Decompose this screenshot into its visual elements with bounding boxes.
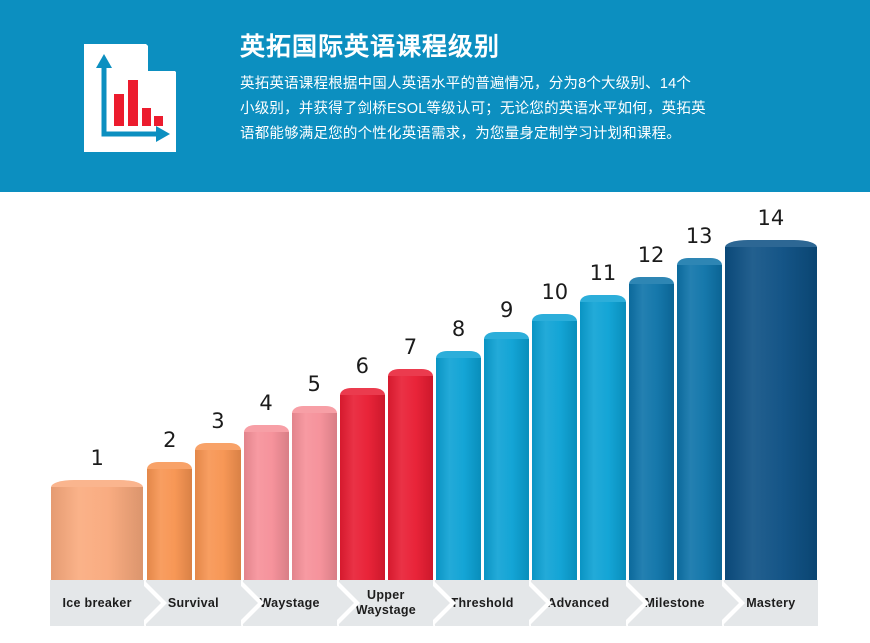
- chart-plot-area: 1234567891011121314: [0, 192, 870, 580]
- stage-label: Advanced: [547, 596, 609, 611]
- bar-level-2[interactable]: [147, 462, 192, 580]
- bar-value-label-14: 14: [725, 206, 817, 230]
- bar-level-5[interactable]: [292, 406, 337, 580]
- bar-value-label-2: 2: [147, 428, 192, 452]
- bar-level-7[interactable]: [388, 369, 433, 580]
- stage-chevron-icon: [433, 580, 456, 626]
- bar-body: [51, 487, 143, 580]
- bar-level-9[interactable]: [484, 332, 529, 580]
- bar-level-1[interactable]: [51, 480, 143, 580]
- bar-value-label-12: 12: [629, 243, 674, 267]
- bar-value-label-6: 6: [340, 354, 385, 378]
- bar-body: [677, 265, 722, 580]
- banner-description-line-3: 语都能够满足您的个性化英语需求，为您量身定制学习计划和课程。: [240, 122, 840, 147]
- bar-body: [725, 247, 817, 580]
- bar-body: [195, 450, 240, 580]
- bar-body: [629, 284, 674, 580]
- bar-value-label-11: 11: [580, 261, 625, 285]
- bar-body: [388, 376, 433, 580]
- stage-chevron-icon: [529, 580, 552, 626]
- banner-description: 英拓英语课程根据中国人英语水平的普遍情况，分为8个大级别、14个 小级别，并获得…: [240, 72, 840, 147]
- bar-value-label-4: 4: [244, 391, 289, 415]
- banner-description-line-1: 英拓英语课程根据中国人英语水平的普遍情况，分为8个大级别、14个: [240, 72, 840, 97]
- document-bar-chart-icon: [82, 42, 178, 154]
- bar-value-label-13: 13: [677, 224, 722, 248]
- header-banner: 英拓国际英语课程级别 英拓英语课程根据中国人英语水平的普遍情况，分为8个大级别、…: [0, 0, 870, 192]
- banner-text-block: 英拓国际英语课程级别 英拓英语课程根据中国人英语水平的普遍情况，分为8个大级别、…: [240, 30, 840, 147]
- bar-body: [147, 469, 192, 580]
- bar-value-label-1: 1: [51, 446, 143, 470]
- stage-label: Milestone: [644, 596, 704, 611]
- stage-label: Threshold: [451, 596, 514, 611]
- bar-body: [484, 339, 529, 580]
- bar-level-8[interactable]: [436, 351, 481, 580]
- bar-level-12[interactable]: [629, 277, 674, 580]
- banner-description-line-2: 小级别，并获得了剑桥ESOL等级认可；无论您的英语水平如何，英拓英: [240, 97, 840, 122]
- bar-value-label-10: 10: [532, 280, 577, 304]
- bar-level-6[interactable]: [340, 388, 385, 580]
- stage-label: UpperWaystage: [356, 588, 416, 618]
- bar-value-label-3: 3: [195, 409, 240, 433]
- bar-body: [436, 358, 481, 580]
- page-title: 英拓国际英语课程级别: [240, 30, 840, 64]
- bar-body: [244, 432, 289, 580]
- stage-chevron-icon: [722, 580, 745, 626]
- stage-chevron-icon: [241, 580, 264, 626]
- bar-level-14[interactable]: [725, 240, 817, 580]
- bar-level-11[interactable]: [580, 295, 625, 580]
- bar-value-label-7: 7: [388, 335, 433, 359]
- stage-chevron-icon: [144, 580, 167, 626]
- stage-ice-breaker[interactable]: Ice breaker: [50, 580, 144, 626]
- bar-value-label-8: 8: [436, 317, 481, 341]
- stage-label: Survival: [168, 596, 219, 611]
- stage-label-row: Ice breakerSurvivalWaystageUpperWaystage…: [50, 580, 820, 626]
- stage-label: Mastery: [746, 596, 795, 611]
- bar-level-10[interactable]: [532, 314, 577, 580]
- bar-level-4[interactable]: [244, 425, 289, 580]
- stage-chevron-icon: [337, 580, 360, 626]
- stage-label: Ice breaker: [62, 596, 131, 611]
- bar-value-label-5: 5: [292, 372, 337, 396]
- bar-value-label-9: 9: [484, 298, 529, 322]
- bar-level-13[interactable]: [677, 258, 722, 580]
- bar-body: [292, 413, 337, 580]
- bar-body: [580, 302, 625, 580]
- bar-body: [532, 321, 577, 580]
- level-bar-chart: 1234567891011121314 Ice breakerSurvivalW…: [0, 192, 870, 643]
- bar-level-3[interactable]: [195, 443, 240, 580]
- bar-body: [340, 395, 385, 580]
- stage-label: Waystage: [259, 596, 319, 611]
- stage-chevron-icon: [626, 580, 649, 626]
